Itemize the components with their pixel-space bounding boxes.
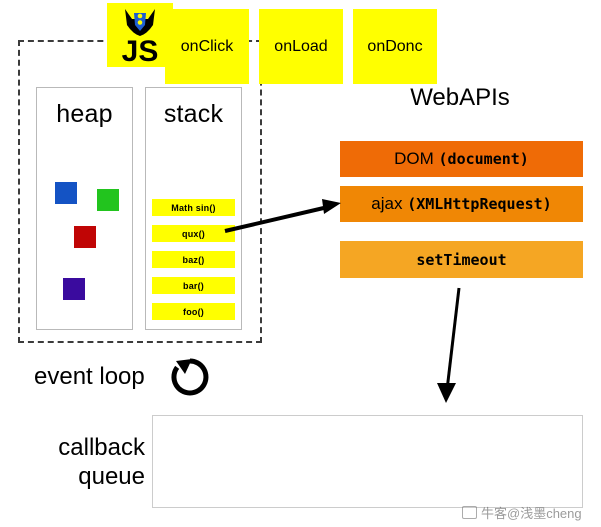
webapi-box-ajax: ajax (XMLHttpRequest): [340, 186, 583, 222]
callback-queue-box: [152, 415, 583, 508]
heap-object-purple: [63, 278, 85, 300]
event-loop-label: event loop: [34, 363, 145, 391]
watermark-text: 牛客@浅墨cheng: [481, 503, 582, 522]
webapi-plain-text: DOM: [394, 149, 438, 168]
queue-item: onDonc: [353, 9, 437, 84]
webapi-plain-text: ajax: [371, 194, 407, 213]
webapis-to-queue-arrow: [437, 288, 459, 403]
stack-title: stack: [146, 100, 241, 129]
webapi-box-dom: DOM (document): [340, 141, 583, 177]
watermark: 牛客@浅墨cheng: [462, 503, 582, 522]
stack-frame: foo(): [152, 303, 235, 320]
webapi-label-ajax: ajax (XMLHttpRequest): [371, 194, 551, 214]
stack-frame: bar(): [152, 277, 235, 294]
heap-title: heap: [37, 100, 132, 129]
queue-item: onClick: [165, 9, 249, 84]
diagram-canvas: JS heap stack Math sin() qux() baz() bar…: [0, 0, 601, 527]
webapi-label-settimeout: setTimeout: [416, 250, 506, 270]
js-logo: JS: [107, 3, 173, 67]
stack-frame: baz(): [152, 251, 235, 268]
heap-object-red: [74, 226, 96, 248]
webapi-mono-text: (document): [439, 150, 529, 168]
callback-queue-label-line1: callback: [10, 433, 145, 462]
webapi-mono-text: setTimeout: [416, 251, 506, 269]
heap-object-blue: [55, 182, 77, 204]
webapi-label-dom: DOM (document): [394, 149, 529, 169]
stack-frame: Math sin(): [152, 199, 235, 216]
svg-text:JS: JS: [122, 35, 159, 67]
queue-item: onLoad: [259, 9, 343, 84]
callback-queue-label-line2: queue: [10, 462, 145, 491]
heap-object-green: [97, 189, 119, 211]
watermark-logo-icon: [462, 506, 477, 519]
webapi-mono-text: (XMLHttpRequest): [407, 195, 552, 213]
callback-queue-label: callback queue: [10, 433, 145, 491]
circular-arrow-icon: [168, 355, 212, 399]
webapis-title: WebAPIs: [360, 84, 560, 112]
webapi-box-settimeout: setTimeout: [340, 241, 583, 278]
stack-frame: qux(): [152, 225, 235, 242]
